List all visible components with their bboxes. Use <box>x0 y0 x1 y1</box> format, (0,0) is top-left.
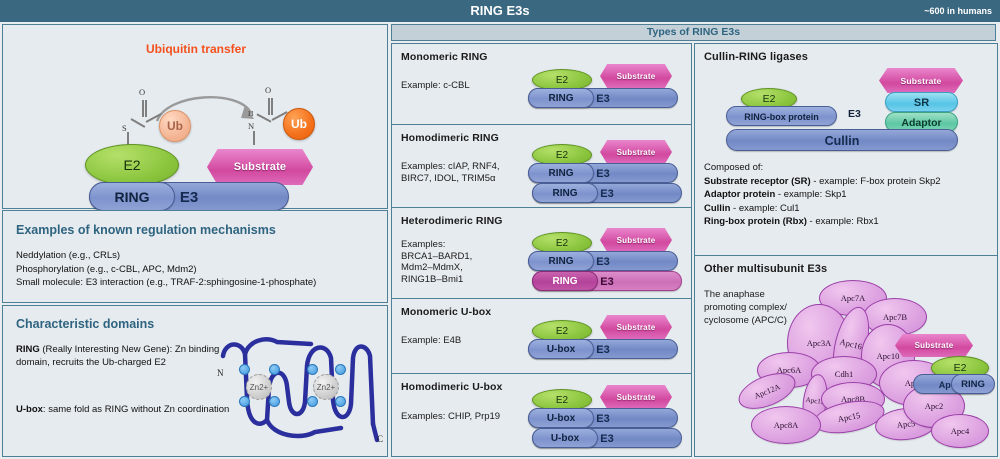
ring-domain-bottom: RING <box>532 271 598 291</box>
substrate-hexagon: Substrate <box>600 315 672 339</box>
composition-term-adaptor: Adaptor protein <box>704 189 775 200</box>
apc-subunit: Apc4 <box>931 414 989 448</box>
section-examples: Examples: cIAP, RNF4, BIRC7, IDOL, TRIM5… <box>401 161 500 184</box>
left-column: Ubiquitin transfer O S Ub O H N <box>2 24 388 457</box>
e2-oval: E2 <box>85 144 179 186</box>
composed-intro: Composed of: <box>704 161 941 175</box>
composition-rest-cullin: - example: Cul1 <box>730 203 799 214</box>
section-examples: Example: c-CBL <box>401 80 470 92</box>
composition-term-cullin: Cullin <box>704 203 730 214</box>
cys-ball-8 <box>335 396 346 407</box>
apc-description: The anaphase promoting complex/ cyclosom… <box>704 288 787 327</box>
atom-n-acceptor: N <box>248 121 254 131</box>
crl-title: Cullin-RING ligases <box>704 51 808 63</box>
atom-h-acceptor: H <box>248 109 253 118</box>
ring-domain: RING <box>89 182 175 211</box>
substrate-label: Substrate <box>207 149 313 185</box>
multisubunit-title: Other multisubunit E3s <box>704 263 827 275</box>
substrate-hexagon: Substrate <box>879 68 963 93</box>
composition-term-rbx: Ring-box protein (Rbx) <box>704 216 807 227</box>
ring-domain: RING <box>528 88 594 108</box>
composition-row-sr: Substrate receptor (SR) - example: F-box… <box>704 175 941 189</box>
ub-acceptor-icon: Ub <box>283 108 315 140</box>
section-monomeric-ring: Monomeric RING Example: c-CBL E2 Substra… <box>391 43 692 125</box>
ring-domain-top: RING <box>528 163 594 183</box>
substrate-label: Substrate <box>895 334 973 357</box>
composition-row-rbx: Ring-box protein (Rbx) - example: Rbx1 <box>704 215 941 229</box>
section-title: Heterodimeric RING <box>401 215 503 227</box>
ubox-domain-top: U-box <box>528 408 594 428</box>
domains-title: Characteristic domains <box>16 317 154 331</box>
ring-fold-diagram <box>215 328 383 452</box>
composition-rest-sr: - example: F-box protein Skp2 <box>811 176 941 187</box>
cys-ball-4 <box>269 396 280 407</box>
section-homodimeric-ubox: Homodimeric U-box Examples: CHIP, Prp19 … <box>391 373 692 457</box>
substrate-label: Substrate <box>600 228 672 252</box>
section-title: Monomeric U-box <box>401 306 491 318</box>
zinc-ion-1: Zn2+ <box>246 374 272 400</box>
section-cullin-ring-ligases: Cullin-RING ligases Substrate SR Adaptor… <box>694 43 998 256</box>
regulation-title: Examples of known regulation mechanisms <box>16 223 276 237</box>
ub-donor-icon: Ub <box>159 110 191 142</box>
ubiquitin-transfer-title: Ubiquitin transfer <box>3 42 389 56</box>
section-monomeric-ubox: Monomeric U-box Example: E4B E2 Substrat… <box>391 298 692 374</box>
regulation-line-2: Phosphorylation (e.g., c-CBL, APC, Mdm2) <box>16 263 316 277</box>
characteristic-domains-panel: Characteristic domains RING (Really Inte… <box>2 305 388 457</box>
section-homodimeric-ring: Homodimeric RING Examples: cIAP, RNF4, B… <box>391 124 692 208</box>
ring-box-protein-capsule: RING-box protein <box>726 106 837 126</box>
substrate-hexagon: Substrate <box>600 140 672 164</box>
bond-c-o-acceptor <box>268 98 270 115</box>
ubox-definition: U-box: same fold as RING without Zn coor… <box>16 403 231 416</box>
ring-domain: RING <box>951 374 995 394</box>
bond-c-o-acceptor-2 <box>271 98 273 115</box>
ubox-domain-bottom: U-box <box>532 428 598 448</box>
substrate-hexagon: Substrate <box>600 228 672 252</box>
cullin-capsule: Cullin <box>726 129 958 151</box>
ring-description: (Really Interesting New Gene): Zn bindin… <box>16 344 219 368</box>
apc-subunit: Apc8A <box>751 406 821 444</box>
regulation-line-1: Neddylation (e.g., CRLs) <box>16 249 316 263</box>
section-title: Homodimeric RING <box>401 132 499 144</box>
ubiquitin-transfer-panel: Ubiquitin transfer O S Ub O H N <box>2 24 388 209</box>
ring-term: RING <box>16 344 40 355</box>
ring-domain-bottom: RING <box>532 183 598 203</box>
regulation-list: Neddylation (e.g., CRLs) Phosphorylation… <box>16 249 316 290</box>
header-bar: RING E3s ~600 in humans <box>0 0 1000 22</box>
cys-ball-7 <box>335 364 346 375</box>
crl-composition: Composed of: Substrate receptor (SR) - e… <box>704 161 941 229</box>
sr-capsule: SR <box>885 92 958 112</box>
figure-root: RING E3s ~600 in humans Ubiquitin transf… <box>0 0 1000 459</box>
ubox-term: U-box <box>16 404 43 415</box>
ring-domain-top: RING <box>528 251 594 271</box>
zinc-label-2: Zn2+ <box>317 383 335 392</box>
atom-o-donor: O <box>139 87 145 97</box>
section-examples: Examples: CHIP, Prp19 <box>401 411 500 423</box>
substrate-label: Substrate <box>879 68 963 93</box>
composition-rest-adaptor: - example: Skp1 <box>775 189 846 200</box>
bond-c-o-donor <box>142 100 144 117</box>
cys-ball-6 <box>307 396 318 407</box>
n-terminus-label: N <box>217 368 224 378</box>
section-multisubunit-e3s: Other multisubunit E3s The anaphase prom… <box>694 255 998 457</box>
substrate-label: Substrate <box>600 140 672 164</box>
substrate-hexagon: Substrate <box>600 64 672 88</box>
substrate-hexagon: Substrate <box>600 385 672 409</box>
zinc-ion-2: Zn2+ <box>313 374 339 400</box>
substrate-hexagon: Substrate <box>207 149 313 185</box>
substrate-label: Substrate <box>600 64 672 88</box>
cys-ball-1 <box>239 364 250 375</box>
bond-s-c <box>131 118 146 128</box>
substrate-label: Substrate <box>600 385 672 409</box>
bond-c-o-donor-2 <box>145 100 147 117</box>
middle-column: Types of RING E3s Monomeric RING Example… <box>391 24 692 457</box>
cys-ball-5 <box>307 364 318 375</box>
c-terminus-label: C <box>377 434 383 444</box>
composition-rest-rbx: - example: Rbx1 <box>807 216 879 227</box>
section-examples: Example: E4B <box>401 335 461 347</box>
human-count-label: ~600 in humans <box>924 0 992 22</box>
composition-row-cullin: Cullin - example: Cul1 <box>704 202 941 216</box>
section-title: Homodimeric U-box <box>401 381 502 393</box>
atom-o-acceptor: O <box>265 85 271 95</box>
ubox-description: : same fold as RING without Zn coordinat… <box>43 404 229 415</box>
section-heterodimeric-ring: Heterodimeric RING Examples: BRCA1–BARD1… <box>391 207 692 299</box>
bond-n-substrate <box>253 131 255 145</box>
regulation-panel: Examples of known regulation mechanisms … <box>2 210 388 303</box>
right-column: Cullin-RING ligases Substrate SR Adaptor… <box>694 24 998 457</box>
e3-label: E3 <box>848 108 861 120</box>
composition-term-sr: Substrate receptor (SR) <box>704 176 811 187</box>
substrate-label: Substrate <box>600 315 672 339</box>
section-title: Monomeric RING <box>401 51 488 63</box>
composition-row-adaptor: Adaptor protein - example: Skp1 <box>704 188 941 202</box>
regulation-line-3: Small molecule: E3 interaction (e.g., TR… <box>16 276 316 290</box>
cys-ball-2 <box>239 396 250 407</box>
substrate-hexagon: Substrate <box>895 334 973 357</box>
section-examples: Examples: BRCA1–BARD1, Mdm2–MdmX, RING1B… <box>401 239 472 285</box>
ring-definition: RING (Really Interesting New Gene): Zn b… <box>16 343 226 369</box>
zinc-label-1: Zn2+ <box>250 383 268 392</box>
cys-ball-3 <box>269 364 280 375</box>
page-title: RING E3s <box>0 0 1000 22</box>
ubox-domain: U-box <box>528 339 594 359</box>
